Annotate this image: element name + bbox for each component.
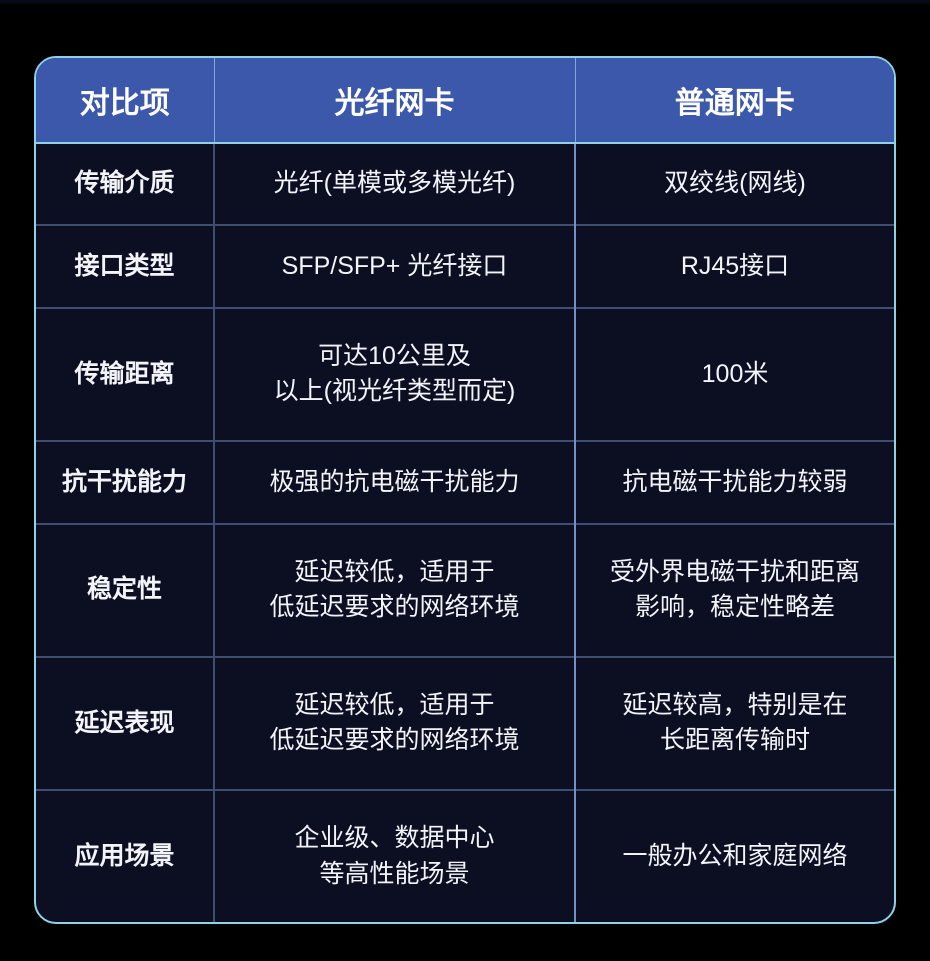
cell-line: 等高性能场景 [227,857,562,893]
table-row: 传输介质 光纤(单模或多模光纤) 双绞线(网线) [36,143,894,225]
row-label-interface-type: 接口类型 [36,225,214,307]
row-label-latency: 延迟表现 [36,657,214,790]
cell-line: 极强的抗电磁干扰能力 [227,465,562,501]
cell-line: 低延迟要求的网络环境 [227,590,562,626]
cell-line: 延迟较低，适用于 [227,688,562,724]
row-label-transmission-medium: 传输介质 [36,143,214,225]
header-cell-criteria: 对比项 [36,58,214,143]
cell-fiber-use-case: 企业级、数据中心 等高性能场景 [214,790,575,922]
cell-line: 抗电磁干扰能力较弱 [588,465,882,501]
comparison-table-card: 对比项 光纤网卡 普通网卡 传输介质 光纤(单模或多模光纤) 双绞线(网线) 接… [34,56,896,924]
row-label-transmission-distance: 传输距离 [36,308,214,441]
table-header: 对比项 光纤网卡 普通网卡 [36,58,894,143]
cell-line: 双绞线(网线) [588,166,882,202]
cell-line: RJ45接口 [588,249,882,285]
row-label-use-case: 应用场景 [36,790,214,922]
cell-normal-latency: 延迟较高，特别是在 长距离传输时 [575,657,894,790]
cell-line: SFP/SFP+ 光纤接口 [227,249,562,285]
cell-line: 可达10公里及 [227,339,562,375]
cell-fiber-transmission-medium: 光纤(单模或多模光纤) [214,143,575,225]
cell-line: 长距离传输时 [588,723,882,759]
cell-line: 低延迟要求的网络环境 [227,723,562,759]
table-body: 传输介质 光纤(单模或多模光纤) 双绞线(网线) 接口类型 SFP/SFP+ 光… [36,143,894,922]
table-row: 应用场景 企业级、数据中心 等高性能场景 一般办公和家庭网络 [36,790,894,922]
cell-normal-stability: 受外界电磁干扰和距离 影响，稳定性略差 [575,524,894,657]
cell-line: 100米 [588,357,882,393]
cell-fiber-transmission-distance: 可达10公里及 以上(视光纤类型而定) [214,308,575,441]
cell-fiber-stability: 延迟较低，适用于 低延迟要求的网络环境 [214,524,575,657]
cell-line: 影响，稳定性略差 [588,590,882,626]
cell-normal-transmission-medium: 双绞线(网线) [575,143,894,225]
cell-line: 以上(视光纤类型而定) [227,374,562,410]
cell-fiber-latency: 延迟较低，适用于 低延迟要求的网络环境 [214,657,575,790]
comparison-table: 对比项 光纤网卡 普通网卡 传输介质 光纤(单模或多模光纤) 双绞线(网线) 接… [36,58,894,922]
row-label-anti-interference: 抗干扰能力 [36,441,214,523]
header-row: 对比项 光纤网卡 普通网卡 [36,58,894,143]
cell-line: 企业级、数据中心 [227,821,562,857]
cell-line: 延迟较低，适用于 [227,555,562,591]
cell-normal-interface-type: RJ45接口 [575,225,894,307]
cell-normal-anti-interference: 抗电磁干扰能力较弱 [575,441,894,523]
table-row: 传输距离 可达10公里及 以上(视光纤类型而定) 100米 [36,308,894,441]
table-row: 接口类型 SFP/SFP+ 光纤接口 RJ45接口 [36,225,894,307]
table-row: 延迟表现 延迟较低，适用于 低延迟要求的网络环境 延迟较高，特别是在 长距离传输… [36,657,894,790]
table-row: 稳定性 延迟较低，适用于 低延迟要求的网络环境 受外界电磁干扰和距离 影响，稳定… [36,524,894,657]
cell-fiber-anti-interference: 极强的抗电磁干扰能力 [214,441,575,523]
cell-line: 光纤(单模或多模光纤) [227,166,562,202]
cell-line: 延迟较高，特别是在 [588,688,882,724]
top-edge-strip [0,0,930,5]
header-cell-normal-nic: 普通网卡 [575,58,894,143]
cell-fiber-interface-type: SFP/SFP+ 光纤接口 [214,225,575,307]
cell-normal-use-case: 一般办公和家庭网络 [575,790,894,922]
table-row: 抗干扰能力 极强的抗电磁干扰能力 抗电磁干扰能力较弱 [36,441,894,523]
cell-line: 受外界电磁干扰和距离 [588,555,882,591]
cell-line: 一般办公和家庭网络 [588,839,882,875]
row-label-stability: 稳定性 [36,524,214,657]
cell-normal-transmission-distance: 100米 [575,308,894,441]
header-cell-fiber-nic: 光纤网卡 [214,58,575,143]
